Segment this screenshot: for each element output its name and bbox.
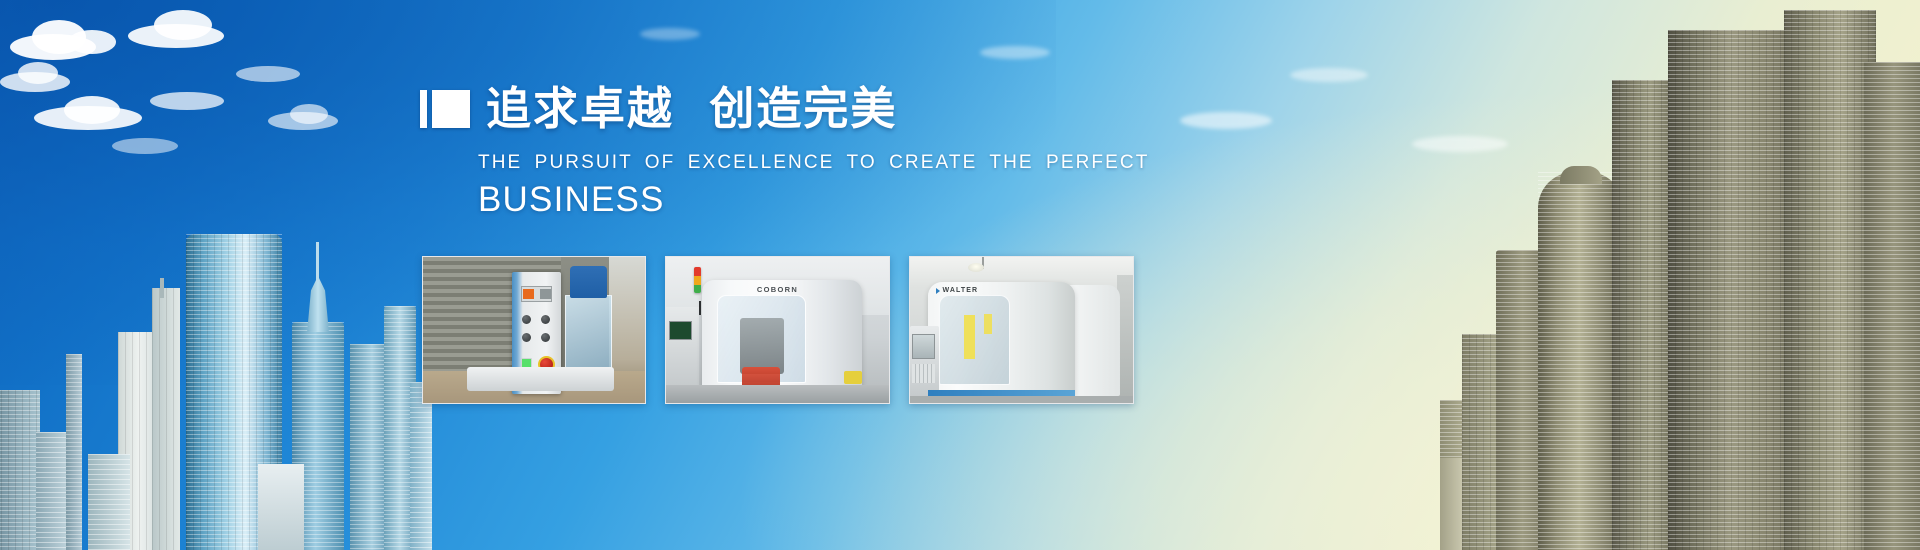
banner-subtitle: THE PURSUIT OF EXCELLENCE TO CREATE THE … — [478, 152, 1180, 174]
walter-machine-photo[interactable]: WALTER — [909, 256, 1134, 404]
bar-and-square-logo-icon — [420, 90, 470, 128]
headline-row: 追求卓越 创造完美 — [420, 86, 1180, 131]
banner-business-word: BUSINESS — [478, 181, 1180, 220]
page-title: 追求卓越 创造完美 — [486, 86, 897, 131]
walter-brand-label: WALTER — [935, 287, 1011, 294]
sepia-highrise-towers — [1440, 80, 1920, 550]
coborn-brand-label: COBORN — [728, 285, 826, 294]
stack-light-icon — [694, 267, 701, 293]
banner-text-block: 追求卓越 创造完美 THE PURSUIT OF EXCELLENCE TO C… — [420, 86, 1180, 220]
machine-photo-strip: COBORN WALTER — [422, 256, 1134, 404]
logo-bar-shape — [420, 90, 427, 128]
blue-glass-skyscrapers — [0, 150, 430, 550]
coborn-machine-photo[interactable]: COBORN — [665, 256, 890, 404]
logo-square-shape — [432, 90, 470, 128]
hero-banner: 追求卓越 创造完美 THE PURSUIT OF EXCELLENCE TO C… — [0, 0, 1920, 550]
cnc-grinding-machine-photo[interactable] — [422, 256, 646, 404]
